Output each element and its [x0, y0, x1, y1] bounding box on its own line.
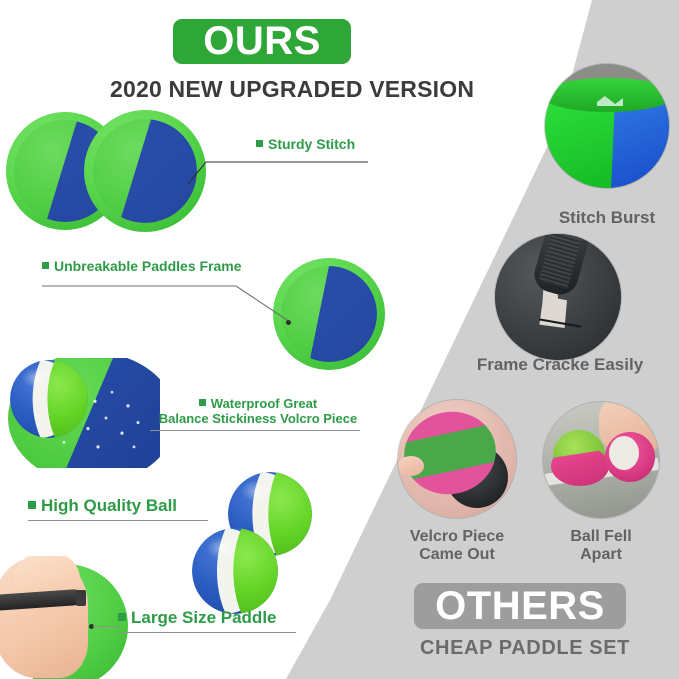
thumb: [398, 456, 424, 476]
leader-dot-unbreakable-frame: [286, 320, 291, 325]
callout-high-quality-ball: High Quality Ball: [28, 496, 212, 521]
strap-buckle-right: [76, 590, 86, 606]
callout-sturdy-stitch: Sturdy Stitch: [256, 136, 368, 153]
ball-highlight: [206, 537, 239, 559]
callout-text: Unbreakable Paddles Frame: [42, 258, 252, 275]
velcro-patch: [93, 119, 198, 224]
others-subtitle: CHEAP PADDLE SET: [420, 637, 630, 660]
callout-text-line1: Waterproof Great: [150, 396, 366, 411]
bullet-icon: [42, 262, 49, 269]
paddle-face: [93, 119, 198, 224]
others-badge: OTHERS: [414, 583, 626, 629]
bullet-icon: [256, 140, 263, 147]
bullet-icon: [118, 613, 126, 621]
defect-caption-velcro-out: Velcro Piece Came Out: [387, 528, 527, 565]
defect-photo-stitch-burst: [545, 64, 669, 188]
ball-photo-partial: [192, 528, 278, 614]
callout-unbreakable-frame: Unbreakable Paddles Frame: [42, 258, 252, 275]
comparison-infographic: Sturdy Stitch Unbreakable Paddles Frame …: [0, 0, 679, 679]
defect-caption-ball-apart: Ball Fell Apart: [531, 528, 671, 565]
callout-text: High Quality Ball: [28, 496, 212, 516]
ball-highlight: [22, 368, 52, 388]
paddle-photo-single: [273, 258, 385, 370]
ball-on-paddle: [10, 360, 88, 438]
bullet-icon: [199, 399, 206, 406]
paddle-photo-pair-right: [84, 110, 206, 232]
callout-waterproof-velcro: Waterproof Great Balance Stickiness Volc…: [150, 396, 366, 431]
defect-photo-ball-apart: [543, 402, 659, 518]
callout-text: Sturdy Stitch: [256, 136, 368, 153]
ball-inner-white: [609, 436, 639, 470]
waterproof-closeup-photo: [2, 358, 160, 468]
ours-subtitle: 2020 NEW UPGRADED VERSION: [110, 76, 474, 103]
callout-rule: [150, 430, 360, 431]
callout-large-size-paddle: Large Size Paddle: [118, 608, 304, 633]
velcro-patch: [281, 266, 377, 362]
defect-photo-velcro-out: [398, 400, 516, 518]
leader-line-unbreakable-frame: [40, 278, 300, 324]
burst-rim: [545, 78, 669, 112]
ours-badge: OURS: [173, 19, 351, 64]
defect-caption-frame-crack: Frame Cracke Easily: [455, 355, 665, 375]
paddle-face: [281, 266, 377, 362]
leader-line-large-size-paddle: [93, 626, 119, 627]
defect-caption-stitch-burst: Stitch Burst: [525, 208, 679, 228]
bullet-icon: [28, 501, 36, 509]
callout-rule: [118, 632, 296, 633]
callout-text-line2: Balance Stickiness Volcro Piece: [150, 411, 366, 426]
callout-rule: [28, 520, 208, 521]
defect-photo-frame-crack: [495, 234, 621, 360]
callout-text: Large Size Paddle: [118, 608, 304, 628]
